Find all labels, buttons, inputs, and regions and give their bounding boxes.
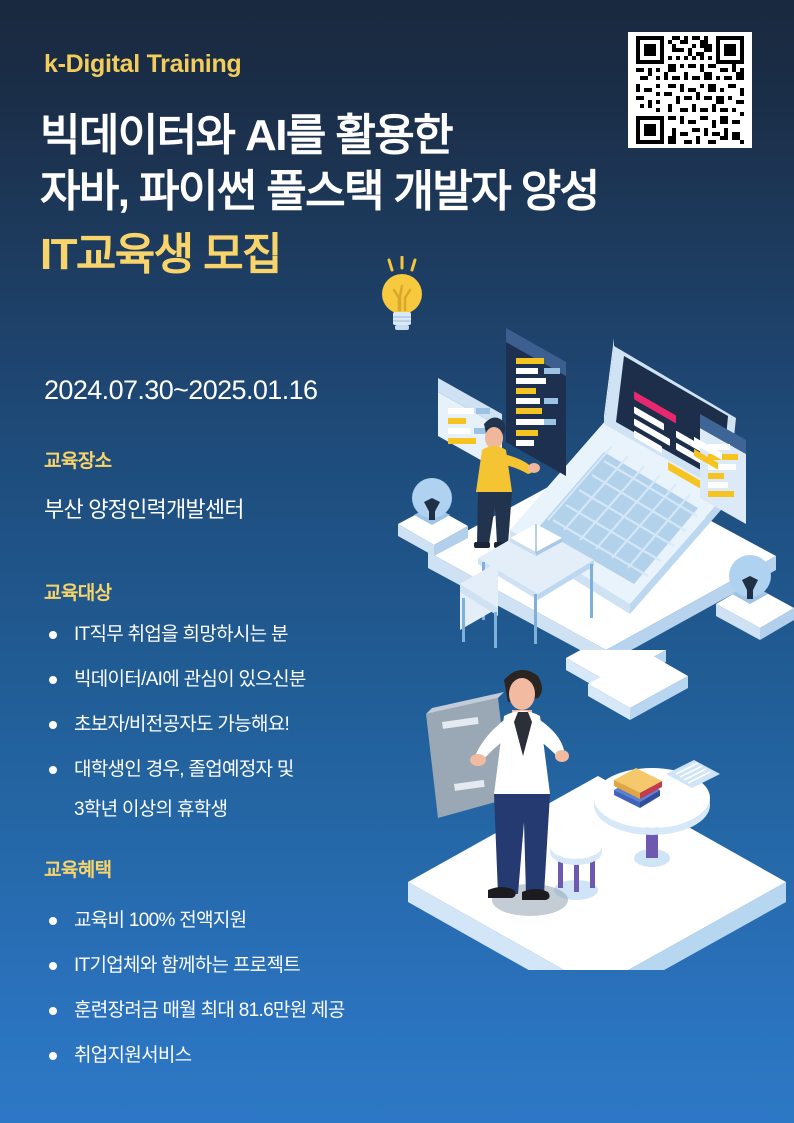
training-location: 부산 양정인력개발센터: [44, 492, 244, 524]
title-line-1: 빅데이터와 AI를 활용한: [40, 108, 660, 164]
person-yellow: [474, 417, 540, 548]
bullet-dot-icon: [49, 962, 57, 970]
notepad: [666, 760, 720, 788]
list-item: 빅데이터/AI에 관심이 있으신분: [44, 667, 306, 693]
bullet-dot-icon: [49, 631, 57, 639]
list-item-text: 초보자/비전공자도 가능해요!: [74, 714, 289, 735]
lightbulb-icon: [374, 256, 430, 334]
bullet-dot-icon: [49, 917, 57, 925]
plinth-right: [716, 555, 794, 640]
list-item-text: IT직무 취업을 희망하시는 분: [74, 624, 288, 645]
plinth-left: [398, 478, 468, 556]
list-item-text: 대학생인 경우, 졸업예정자 및: [74, 759, 294, 780]
bullet-dot-icon: [49, 1007, 57, 1015]
list-item: IT기업체와 함께하는 프로젝트: [44, 953, 345, 979]
list-item-text: 취업지원서비스: [74, 1045, 191, 1066]
list-item-text: 훈련장려금 매월 최대 81.6만원 제공: [74, 1000, 345, 1021]
code-lines-main: [634, 391, 712, 495]
bullet-dot-icon: [49, 676, 57, 684]
person-presenter: [470, 670, 569, 916]
desk-and-chair: [460, 524, 594, 648]
benefits-list: 교육비 100% 전액지원 IT기업체와 함께하는 프로젝트 훈련장려금 매월 …: [44, 908, 345, 1088]
training-period: 2024.07.30~2025.01.16: [44, 375, 317, 406]
platform-base: [408, 776, 786, 970]
bullet-dot-icon: [49, 1052, 57, 1060]
page-title: 빅데이터와 AI를 활용한 자바, 파이썬 풀스택 개발자 양성 IT교육생 모…: [40, 108, 660, 284]
list-item: 훈련장려금 매월 최대 81.6만원 제공: [44, 998, 345, 1024]
isometric-laptop-workspace-illustration: [398, 312, 794, 672]
laptop: [510, 338, 746, 614]
platform-base: [428, 460, 776, 664]
list-item-text: 빅데이터/AI에 관심이 있으신분: [74, 669, 306, 690]
list-item: 교육비 100% 전액지원: [44, 908, 345, 934]
books-stack: [614, 768, 662, 808]
list-item: 취업지원서비스: [44, 1043, 345, 1069]
list-item: 대학생인 경우, 졸업예정자 및 3학년 이상의 휴학생: [44, 757, 306, 823]
round-table: [594, 760, 720, 867]
list-item-text: 교육비 100% 전액지원: [74, 910, 246, 931]
floating-code-panel-large: [506, 328, 566, 476]
title-highlight: IT교육생 모집: [40, 226, 281, 284]
poster-canvas: k-Digital Training: [0, 0, 794, 1123]
bullet-dot-icon: [49, 721, 57, 729]
list-item-text-continued: 3학년 이상의 휴학생: [74, 797, 306, 823]
section-heading-place: 교육장소: [44, 446, 112, 473]
program-kicker: k-Digital Training: [44, 50, 241, 79]
list-item-text: IT기업체와 함께하는 프로젝트: [74, 955, 300, 976]
section-heading-target: 교육대상: [44, 578, 112, 605]
title-line-2: 자바, 파이썬 풀스택 개발자 양성: [40, 164, 660, 220]
side-code-panel: [700, 414, 746, 524]
floating-code-panel-small: [438, 378, 502, 472]
stool: [550, 833, 602, 900]
isometric-person-presentation-illustration: [398, 650, 794, 970]
target-audience-list: IT직무 취업을 희망하시는 분 빅데이터/AI에 관심이 있으신분 초보자/비…: [44, 622, 306, 842]
presentation-board: [426, 692, 510, 818]
floating-bars: [566, 650, 688, 720]
bullet-dot-icon: [49, 766, 57, 774]
list-item: IT직무 취업을 희망하시는 분: [44, 622, 306, 648]
screen-snippet: [694, 437, 722, 470]
list-item: 초보자/비전공자도 가능해요!: [44, 712, 306, 738]
section-heading-benefit: 교육혜택: [44, 855, 112, 882]
